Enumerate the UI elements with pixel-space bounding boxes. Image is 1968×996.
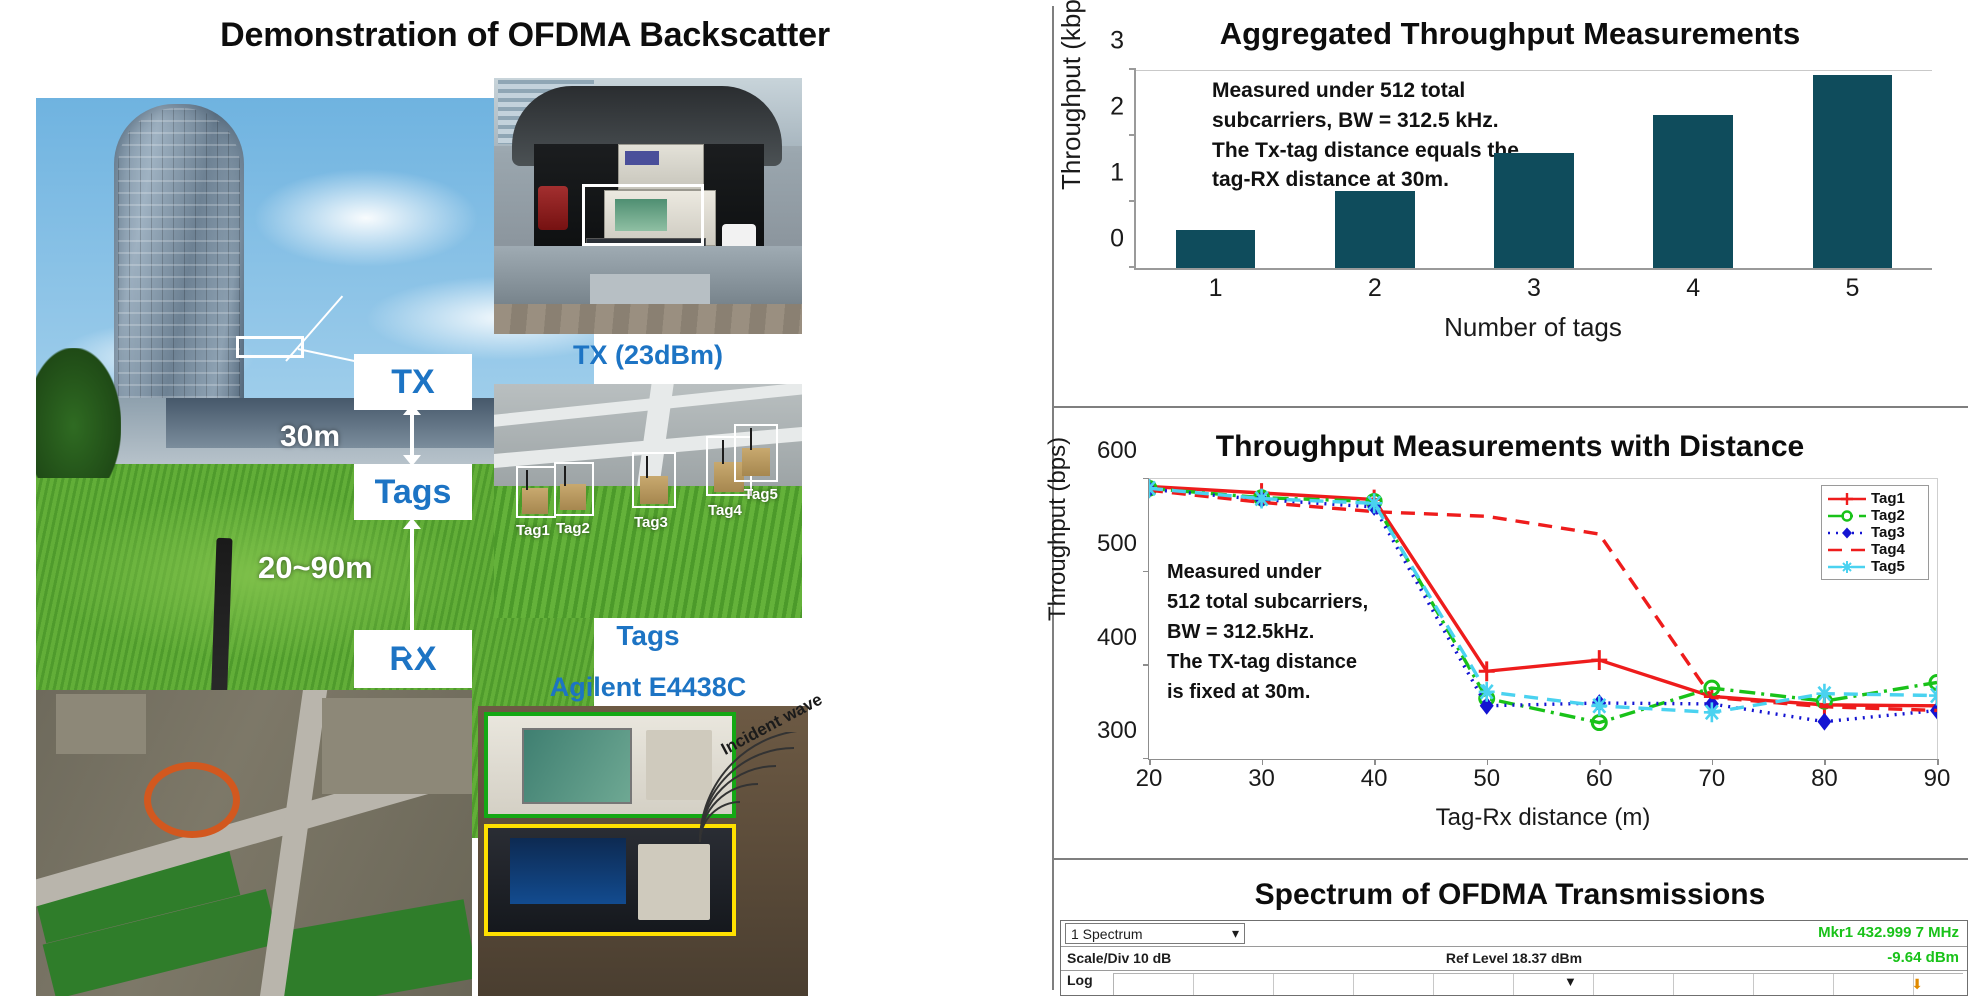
bar-plot-area: Measured under 512 total subcarriers, BW… bbox=[1134, 70, 1932, 270]
line-chart-annotation: Measured under 512 total subcarriers, BW… bbox=[1167, 557, 1417, 707]
horizontal-divider-1 bbox=[1052, 406, 1968, 408]
line-x-tickmark bbox=[1824, 759, 1826, 765]
legend-label-tag4: Tag4 bbox=[1871, 541, 1905, 558]
caption-tags: Tags bbox=[494, 620, 802, 652]
marker-arrow-icon: ⬇ bbox=[1911, 976, 1923, 993]
line-y-axis-label: Throughput (bps) bbox=[1044, 411, 1072, 621]
bar-x-tick: 2 bbox=[1368, 268, 1382, 303]
bar-x-axis-label: Number of tags bbox=[1134, 312, 1932, 343]
line-x-tickmark bbox=[1149, 759, 1151, 765]
bar-x-tick: 3 bbox=[1527, 268, 1541, 303]
line-y-tick: 600 bbox=[1097, 437, 1149, 465]
line-annotation-line-3: BW = 312.5kHz. bbox=[1167, 617, 1417, 647]
bar-top-gridline bbox=[1136, 70, 1932, 71]
bar-5 bbox=[1813, 75, 1893, 268]
bar-y-tick: 0 bbox=[1110, 225, 1136, 254]
tx-trunk-photo bbox=[494, 78, 802, 334]
bar-chart-title: Aggregated Throughput Measurements bbox=[1052, 16, 1968, 52]
marker-tag5 bbox=[1816, 684, 1832, 704]
spectrum-source-select[interactable]: 1 Spectrum ▾ bbox=[1065, 923, 1245, 944]
tag-label-5: Tag5 bbox=[744, 486, 778, 503]
line-x-axis-label: Tag-Rx distance (m) bbox=[1148, 804, 1938, 832]
line-y-tick: 500 bbox=[1097, 530, 1149, 558]
bar-1 bbox=[1176, 230, 1256, 268]
dimension-tags-rx: 20~90m bbox=[258, 550, 373, 586]
marker-tag5 bbox=[1479, 682, 1495, 702]
bar-y-tickmark bbox=[1129, 68, 1136, 70]
office-tower bbox=[114, 104, 244, 434]
marker-tag3 bbox=[1817, 713, 1831, 731]
bar-2 bbox=[1335, 191, 1415, 268]
legend-label-tag5: Tag5 bbox=[1871, 558, 1905, 575]
legend-swatch-tag1 bbox=[1827, 492, 1867, 506]
marker-tag5 bbox=[1704, 702, 1720, 722]
marker-tag1 bbox=[1591, 650, 1607, 670]
tags-deployment-photo: Tag1 Tag2 Tag3 Tag4 Tag5 bbox=[494, 384, 802, 618]
line-x-tickmark bbox=[1262, 759, 1264, 765]
legend-swatch-tag4 bbox=[1827, 543, 1867, 557]
aggregated-throughput-bar-chart: Throughput (kbps) Measured under 512 tot… bbox=[1070, 66, 1950, 336]
left-panel-title: Demonstration of OFDMA Backscatter bbox=[0, 16, 1050, 55]
marker-tag5 bbox=[1591, 696, 1607, 716]
line-y-tickmark bbox=[1143, 664, 1149, 666]
line-y-tick: 300 bbox=[1097, 717, 1149, 745]
line-chart-legend: Tag1Tag2Tag3Tag4Tag5 bbox=[1821, 485, 1929, 580]
aerial-building-1 bbox=[322, 698, 472, 794]
tag-box-3 bbox=[632, 452, 676, 508]
line-annotation-line-4: The TX-tag distance bbox=[1167, 647, 1417, 677]
legend-item-tag5[interactable]: Tag5 bbox=[1827, 558, 1923, 575]
bar-3 bbox=[1494, 153, 1574, 269]
agilent-bottom-screen bbox=[510, 838, 626, 904]
legend-item-tag2[interactable]: Tag2 bbox=[1827, 507, 1923, 524]
tail-light bbox=[538, 186, 568, 230]
bar-y-tickmark bbox=[1129, 134, 1136, 136]
line-y-tickmark bbox=[1143, 478, 1149, 480]
spectrum-analyzer-panel[interactable]: 1 Spectrum ▾ Mkr1 432.999 7 MHz Scale/Di… bbox=[1060, 920, 1968, 996]
marker-tag5 bbox=[1254, 489, 1270, 509]
center-marker-icon: ▼ bbox=[1564, 974, 1577, 989]
aerial-building-2 bbox=[56, 694, 146, 754]
label-tx: TX bbox=[354, 354, 472, 410]
marker-power-readout: -9.64 dBm bbox=[1887, 949, 1959, 966]
legend-item-tag1[interactable]: Tag1 bbox=[1827, 490, 1923, 507]
marker-tag5 bbox=[1366, 493, 1382, 513]
agilent-top-screen bbox=[522, 728, 632, 804]
spectrum-source-value: 1 Spectrum bbox=[1071, 926, 1143, 942]
line-y-tickmark bbox=[1143, 571, 1149, 573]
log-scale-label: Log bbox=[1067, 972, 1093, 988]
legend-item-tag3[interactable]: Tag3 bbox=[1827, 524, 1923, 541]
arrow-tags-rx bbox=[410, 528, 414, 646]
line-annotation-line-1: Measured under bbox=[1167, 557, 1417, 587]
bar-y-tick: 1 bbox=[1110, 159, 1136, 188]
aerial-tower-ring bbox=[144, 762, 240, 838]
spectrum-graticule-row: Log ▼ ⬇ bbox=[1061, 971, 1967, 995]
bar-x-tick: 5 bbox=[1845, 268, 1859, 303]
bar-y-axis-label: Throughput (kbps) bbox=[1056, 10, 1087, 190]
slide-root: Demonstration of OFDMA Backscatter TX Ta… bbox=[0, 0, 1968, 996]
scale-per-div-readout: Scale/Div 10 dB bbox=[1067, 950, 1171, 966]
bar-x-tick: 4 bbox=[1686, 268, 1700, 303]
line-x-tickmark bbox=[1374, 759, 1376, 765]
bar-4 bbox=[1653, 115, 1733, 268]
line-x-tickmark bbox=[1599, 759, 1601, 765]
legend-swatch-tag2 bbox=[1827, 509, 1867, 523]
legend-swatch-tag3 bbox=[1827, 526, 1867, 540]
marker-frequency-readout: Mkr1 432.999 7 MHz bbox=[1818, 924, 1959, 941]
legend-label-tag3: Tag3 bbox=[1871, 524, 1905, 541]
legend-label-tag2: Tag2 bbox=[1871, 507, 1905, 524]
line-chart-title: Throughput Measurements with Distance bbox=[1052, 430, 1968, 464]
license-plate bbox=[590, 274, 710, 306]
label-tags: Tags bbox=[354, 464, 472, 520]
dimension-tx-tags: 30m bbox=[280, 420, 340, 454]
bar-x-tick: 1 bbox=[1209, 268, 1223, 303]
throughput-distance-line-chart: Throughput (bps) Measured under 512 tota… bbox=[1070, 470, 1950, 860]
bar-y-tick: 2 bbox=[1110, 93, 1136, 122]
bar-y-tickmark bbox=[1129, 266, 1136, 268]
spectrum-title: Spectrum of OFDMA Transmissions bbox=[1052, 878, 1968, 912]
chevron-down-icon[interactable]: ▾ bbox=[1232, 925, 1239, 942]
tag-label-4: Tag4 bbox=[708, 502, 742, 519]
line-x-tickmark bbox=[1712, 759, 1714, 765]
tag-label-3: Tag3 bbox=[634, 514, 668, 531]
arrow-tx-tags bbox=[410, 414, 414, 456]
line-x-tickmark bbox=[1937, 759, 1939, 765]
legend-item-tag4[interactable]: Tag4 bbox=[1827, 541, 1923, 558]
bar-annotation-line-1: Measured under 512 total bbox=[1212, 76, 1772, 106]
paving-ground bbox=[494, 304, 802, 334]
tag-box-2 bbox=[554, 462, 594, 516]
line-y-tick: 400 bbox=[1097, 624, 1149, 652]
instrument-highlight-box bbox=[582, 184, 704, 246]
spectrum-graticule: ▼ ⬇ bbox=[1113, 973, 1963, 995]
reference-level-readout: Ref Level 18.37 dBm bbox=[1446, 950, 1582, 966]
bar-y-tickmark bbox=[1129, 200, 1136, 202]
line-annotation-line-2: 512 total subcarriers, bbox=[1167, 587, 1417, 617]
line-annotation-line-5: is fixed at 30m. bbox=[1167, 677, 1417, 707]
incident-wave-icon bbox=[690, 732, 830, 852]
tree-cluster bbox=[36, 348, 121, 478]
bar-y-tick: 3 bbox=[1110, 27, 1136, 56]
caption-tx: TX (23dBm) bbox=[494, 340, 802, 371]
agilent-bottom-keypad bbox=[638, 844, 710, 920]
spectrum-settings-row: Scale/Div 10 dB Ref Level 18.37 dBm -9.6… bbox=[1061, 947, 1967, 971]
tx-highlight-box bbox=[236, 336, 304, 358]
tag-label-1: Tag1 bbox=[516, 522, 550, 539]
line-plot-area: Measured under 512 total subcarriers, BW… bbox=[1148, 478, 1938, 760]
tag-label-2: Tag2 bbox=[556, 520, 590, 537]
aerial-site-photo bbox=[36, 690, 472, 996]
spectrum-header-row: 1 Spectrum ▾ Mkr1 432.999 7 MHz bbox=[1061, 921, 1967, 947]
tag-box-1 bbox=[516, 466, 556, 518]
tag-box-5 bbox=[734, 424, 778, 482]
legend-label-tag1: Tag1 bbox=[1871, 490, 1905, 507]
line-x-tickmark bbox=[1487, 759, 1489, 765]
legend-swatch-tag5 bbox=[1827, 560, 1867, 574]
caption-agilent: Agilent E4438C bbox=[478, 672, 818, 703]
